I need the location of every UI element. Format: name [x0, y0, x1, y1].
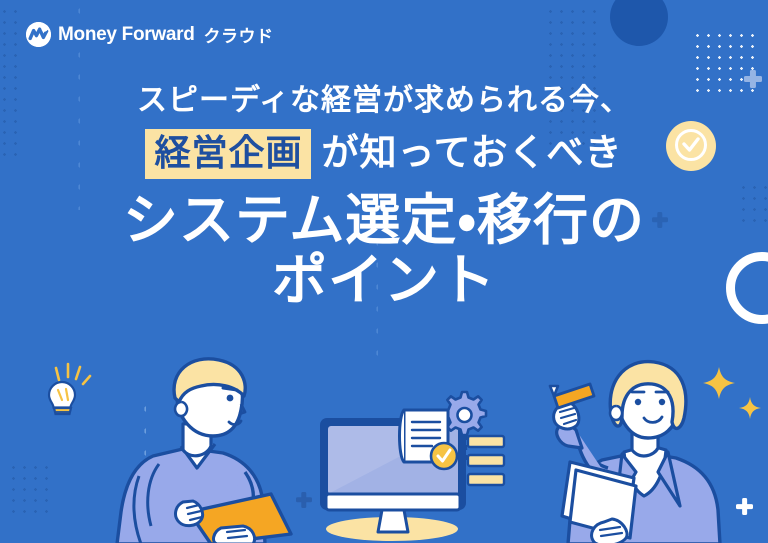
headline-line-3: システム選定・移行の	[0, 191, 768, 250]
logo-service-name: クラウド	[204, 22, 274, 47]
hero-headline: スピーディな経営が求められる今、 経営企画 が知っておくべき システム選定・移行…	[0, 82, 768, 312]
man-with-tablet-illustration	[95, 352, 300, 543]
circle-dark-top	[610, 0, 668, 46]
headline-line-2-rest: が知っておくべき	[321, 133, 622, 174]
money-forward-circle-mark	[26, 22, 51, 47]
headline-line-2: 経営企画 が知っておくべき	[0, 129, 768, 179]
plus-white-bottom-right	[736, 498, 753, 515]
headline-line-4: ポイント	[0, 250, 768, 312]
sparkle-plus-icon	[738, 396, 762, 420]
check-speech-bubble	[664, 120, 718, 182]
brand-logo[interactable]: Money Forward クラウド	[26, 22, 274, 47]
headline-highlight-keyword: 経営企画	[145, 129, 311, 179]
monitor-illustration	[300, 386, 510, 543]
dot-grid-bottom-left	[8, 462, 52, 518]
hero-banner: Money Forward クラウド スピーディな経営が求められる今、 経営企画…	[0, 0, 768, 543]
logo-wordmark: Money Forward	[58, 24, 195, 46]
sparkle-star-icon	[702, 366, 736, 400]
headline-line-1: スピーディな経営が求められる今、	[0, 82, 768, 120]
